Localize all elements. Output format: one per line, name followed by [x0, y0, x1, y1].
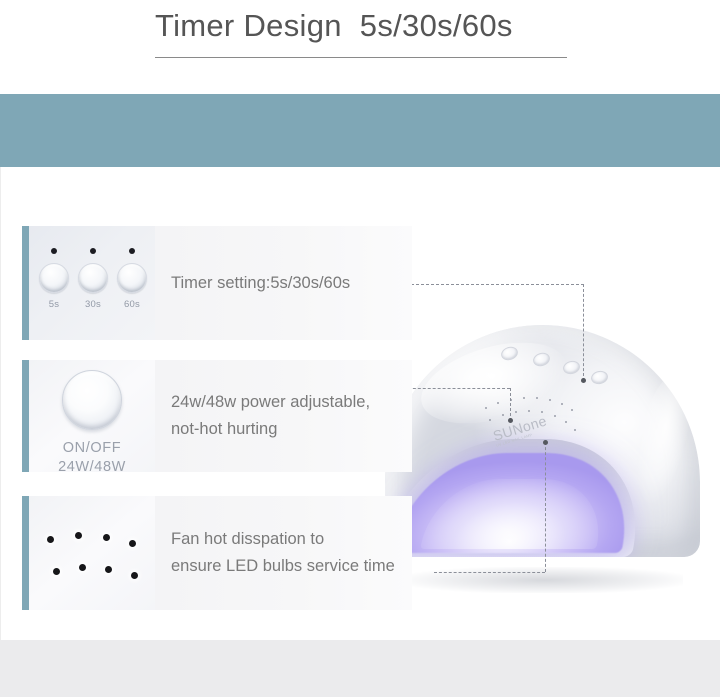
led-indicator-icon — [51, 248, 57, 254]
timer-button-label: 5s — [49, 299, 59, 310]
timer-button-panel: 5s 30s 60s — [29, 226, 155, 340]
page-title-main: Timer Design — [155, 8, 342, 43]
lamp-shadow — [405, 567, 683, 593]
power-label-line-1: ON/OFF — [58, 439, 126, 458]
vent-hole-icon — [129, 540, 136, 547]
lamp-vent-dot — [571, 409, 573, 411]
timer-button-label: 60s — [124, 299, 140, 310]
vent-holes-panel — [29, 496, 155, 610]
led-indicator-icon — [90, 248, 96, 254]
title-underline — [155, 57, 567, 58]
power-button-icon[interactable] — [62, 370, 122, 430]
product-lamp-image: SUNone UV LED NAIL LAMP — [385, 325, 700, 587]
feature-line: ensure LED bulbs service time — [171, 553, 412, 580]
accent-bar — [22, 226, 29, 340]
callout-line-3-horizontal — [434, 572, 545, 573]
power-button-label: ON/OFF 24W/48W — [58, 439, 126, 472]
vent-hole-icon — [53, 568, 60, 575]
power-label-line-2: 24W/48W — [58, 458, 126, 472]
callout-node-3 — [543, 440, 548, 445]
power-button-panel: ON/OFF 24W/48W — [29, 360, 155, 472]
vent-hole-icon — [103, 534, 110, 541]
lamp-top-button-4 — [590, 369, 609, 385]
callout-line-1-horizontal — [386, 284, 584, 285]
lamp-vent-dot — [554, 415, 556, 417]
feature-line: 24w/48w power adjustable, — [171, 389, 412, 416]
callout-line-3-vertical — [545, 442, 546, 572]
power-button-group[interactable]: ON/OFF 24W/48W — [29, 370, 155, 472]
timer-button-group: 5s 30s 60s — [37, 248, 149, 310]
feature-row-power: ON/OFF 24W/48W 24w/48w power adjustable,… — [22, 360, 412, 472]
timer-button-60s[interactable]: 60s — [115, 248, 149, 310]
lamp-vent-dot — [574, 429, 576, 431]
feature-line: not-hot hurting — [171, 416, 412, 443]
infographic-page: Timer Design5s/30s/60s — [0, 0, 720, 697]
vent-hole-grid — [43, 526, 147, 580]
feature-line: Fan hot disspation to — [171, 526, 412, 553]
lamp-vent-dot — [549, 399, 551, 401]
header: Timer Design5s/30s/60s — [0, 0, 720, 94]
lamp-edge-gloss — [627, 370, 699, 509]
page-title-sub: 5s/30s/60s — [360, 8, 513, 43]
timer-button-5s[interactable]: 5s — [37, 248, 71, 310]
vent-hole-icon — [131, 572, 138, 579]
led-indicator-icon — [129, 248, 135, 254]
vent-hole-icon — [75, 532, 82, 539]
callout-line-1-vertical — [583, 284, 584, 381]
vent-hole-icon — [79, 564, 86, 571]
feature-text-power: 24w/48w power adjustable, not-hot hurtin… — [155, 360, 412, 472]
accent-bar — [22, 496, 29, 610]
timer-button-label: 30s — [85, 299, 101, 310]
accent-bar — [22, 360, 29, 472]
timer-button-30s[interactable]: 30s — [76, 248, 110, 310]
round-button-icon[interactable] — [117, 263, 147, 293]
callout-line-2-horizontal — [398, 388, 510, 389]
round-button-icon[interactable] — [78, 263, 108, 293]
footer-strip — [0, 640, 720, 697]
callout-node-1 — [581, 378, 586, 383]
lamp-vent-dot — [561, 403, 563, 405]
lamp-vent-dot — [565, 421, 567, 423]
lamp-vent-dot — [489, 419, 491, 421]
callout-line-2-vertical — [510, 388, 511, 421]
feature-row-timer: 5s 30s 60s Timer setting:5s/30s/60s — [22, 226, 412, 340]
color-banner — [0, 94, 720, 167]
vent-hole-icon — [105, 566, 112, 573]
round-button-icon[interactable] — [39, 263, 69, 293]
feature-line: Timer setting:5s/30s/60s — [171, 270, 412, 297]
page-title: Timer Design5s/30s/60s — [155, 8, 513, 44]
callout-node-2 — [508, 418, 513, 423]
feature-row-fan: Fan hot disspation to ensure LED bulbs s… — [22, 496, 412, 610]
feature-text-timer: Timer setting:5s/30s/60s — [155, 226, 412, 340]
lamp-vent-dot — [528, 410, 530, 412]
vent-hole-icon — [47, 536, 54, 543]
feature-text-fan: Fan hot disspation to ensure LED bulbs s… — [155, 496, 412, 610]
lamp-highlight — [412, 328, 576, 439]
